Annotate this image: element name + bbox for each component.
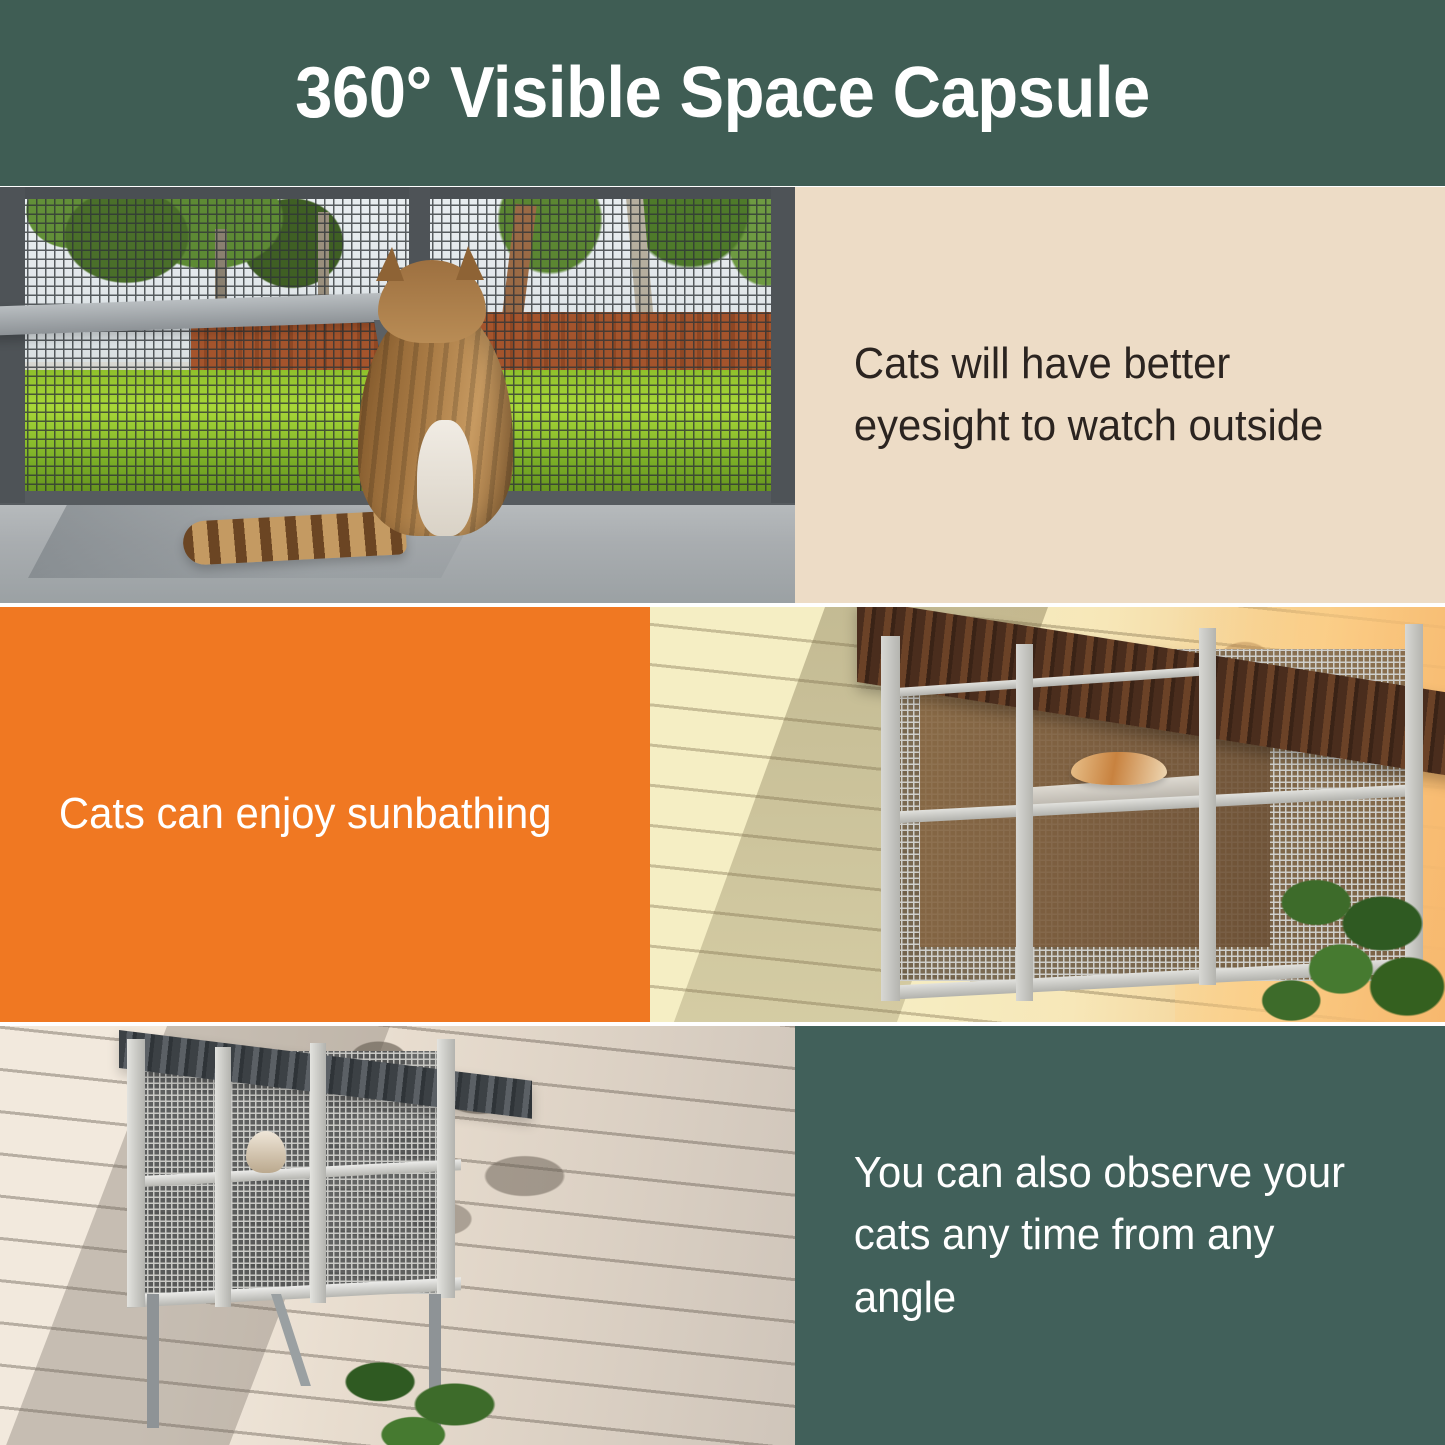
frame-post [771,187,795,503]
cat-ear-right [456,246,484,280]
row-top: Cats will have better eyesight to watch … [0,187,1445,603]
frame-post [127,1039,144,1307]
photo-middle-right [650,607,1445,1022]
page-title: 360° Visible Space Capsule [295,52,1150,134]
row-middle: Cats can enjoy sunbathing [0,607,1445,1022]
panel-top-right-text: Cats will have better eyesight to watch … [795,333,1413,458]
panel-bottom-right: You can also observe your cats any time … [795,1026,1445,1445]
wall-mounted-catio-photo [0,1026,795,1445]
cat-white-patch [417,420,473,536]
ginger-cat [1071,752,1166,785]
sunlit-wall-catio-photo [650,607,1445,1022]
page-header: 360° Visible Space Capsule [0,0,1445,186]
frame-post [881,636,900,1001]
frame-post [310,1043,326,1303]
panel-middle-left-text: Cats can enjoy sunbathing [0,783,591,845]
panel-bottom-right-text: You can also observe your cats any time … [795,1142,1413,1329]
frame-post [0,187,25,503]
row-bottom: You can also observe your cats any time … [0,1026,1445,1445]
frame-post [437,1039,454,1299]
panel-middle-left: Cats can enjoy sunbathing [0,607,650,1022]
support-leg [147,1294,159,1428]
photo-top-left [0,187,795,603]
panel-top-right: Cats will have better eyesight to watch … [795,187,1445,603]
frame-post [1199,628,1216,985]
infographic-page: 360° Visible Space Capsule [0,0,1445,1445]
cat-ear-left [376,247,404,281]
frame-rail-top [0,187,795,199]
cat-watching-garden-photo [0,187,795,603]
frame-post [215,1047,231,1307]
frame-post [1016,644,1033,1001]
green-shrub [318,1344,525,1445]
photo-bottom-left [0,1026,795,1445]
green-shrub [1254,864,1445,1022]
